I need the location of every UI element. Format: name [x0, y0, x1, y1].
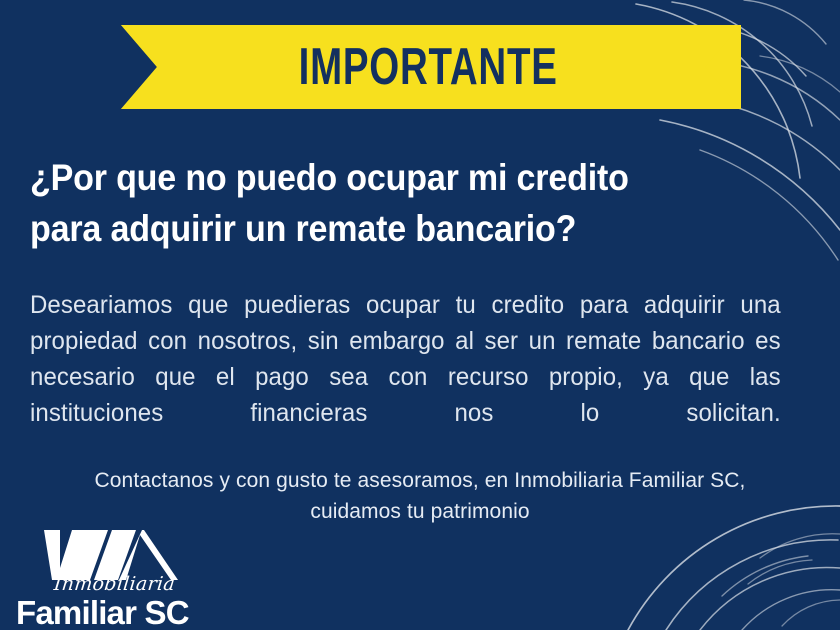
- banner-title: IMPORTANTE: [109, 25, 731, 109]
- body-paragraph: Deseariamos que puedieras ocupar tu cred…: [30, 287, 781, 467]
- headline-line-1: ¿Por que no puedo ocupar mi credito: [30, 152, 674, 203]
- contact-line-1: Contactanos y con gusto te asesoramos, e…: [0, 465, 840, 496]
- logo-company-name: Familiar SC: [16, 594, 189, 630]
- poster-canvas: IMPORTANTE ¿Por que no puedo ocupar mi c…: [0, 0, 840, 630]
- company-logo: Inmobiliaria Familiar SC: [16, 528, 216, 624]
- contact-message: Contactanos y con gusto te asesoramos, e…: [0, 465, 840, 527]
- logo-script-text: Inmobiliaria: [53, 573, 176, 595]
- contact-line-2: cuidamos tu patrimonio: [0, 496, 840, 527]
- headline-line-2: para adquirir un remate bancario?: [30, 203, 674, 254]
- page-title: ¿Por que no puedo ocupar mi credito para…: [30, 152, 674, 254]
